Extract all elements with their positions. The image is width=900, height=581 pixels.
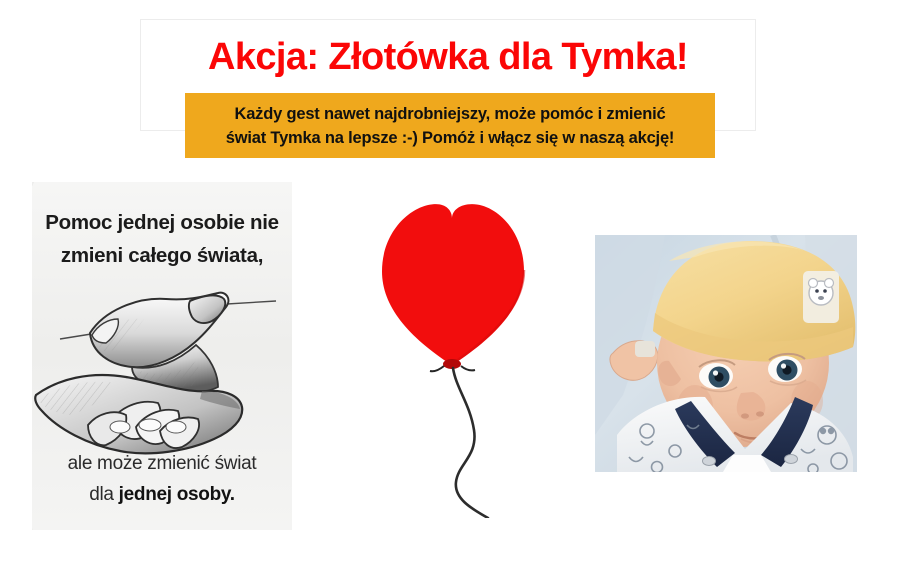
quote-line-4: dla jednej osoby. bbox=[32, 479, 292, 510]
quote-bottom-text: ale może zmienić świat dla jednej osoby. bbox=[32, 448, 292, 510]
subtitle-line-1: Każdy gest nawet najdrobniejszy, może po… bbox=[234, 102, 665, 126]
quote-line-3: ale może zmienić świat bbox=[32, 448, 292, 479]
heart-shape bbox=[382, 204, 524, 365]
balloon-string bbox=[453, 368, 488, 518]
handshake-quote-image: Pomoc jednej osobie nie zmieni całego św… bbox=[32, 182, 292, 530]
quote-line-1: Pomoc jednej osobie nie bbox=[32, 206, 292, 239]
subtitle-line-2: świat Tymka na lepsze :-) Pomóż i włącz … bbox=[226, 126, 674, 150]
subtitle-banner: Każdy gest nawet najdrobniejszy, może po… bbox=[185, 93, 715, 158]
poster-canvas: Akcja: Złotówka dla Tymka! Każdy gest na… bbox=[0, 0, 900, 581]
quote-line-2: zmieni całego świata, bbox=[32, 239, 292, 272]
baby-photo bbox=[595, 235, 857, 472]
page-title: Akcja: Złotówka dla Tymka! bbox=[140, 34, 756, 80]
heart-balloon bbox=[378, 198, 528, 518]
hat-patch bbox=[803, 271, 839, 323]
handshake-drawing bbox=[32, 287, 292, 467]
quote-line-4-plain: dla bbox=[89, 484, 118, 505]
quote-top-text: Pomoc jednej osobie nie zmieni całego św… bbox=[32, 206, 292, 272]
quote-line-4-strong: jednej osoby. bbox=[119, 484, 235, 505]
